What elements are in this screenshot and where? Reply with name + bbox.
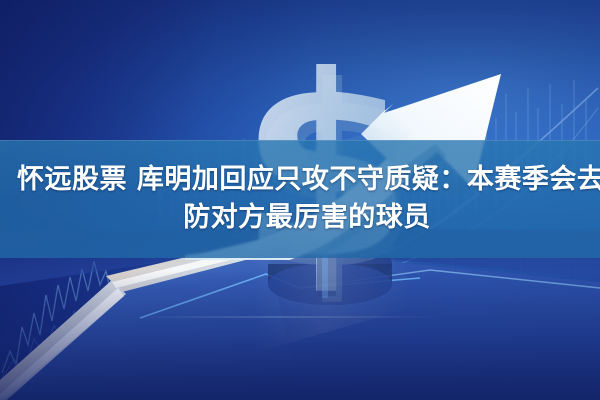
headline-line-1: 怀远股票 库明加回应只攻不守质疑：本赛季会去 <box>17 163 600 197</box>
banner-image: $ $ <box>0 0 600 400</box>
background-bottom-vignette <box>0 270 600 400</box>
headline-line-2: 防对方最厉害的球员 <box>183 201 431 235</box>
headline-text: 怀远股票 库明加回应只攻不守质疑：本赛季会去 防对方最厉害的球员 <box>0 140 600 258</box>
